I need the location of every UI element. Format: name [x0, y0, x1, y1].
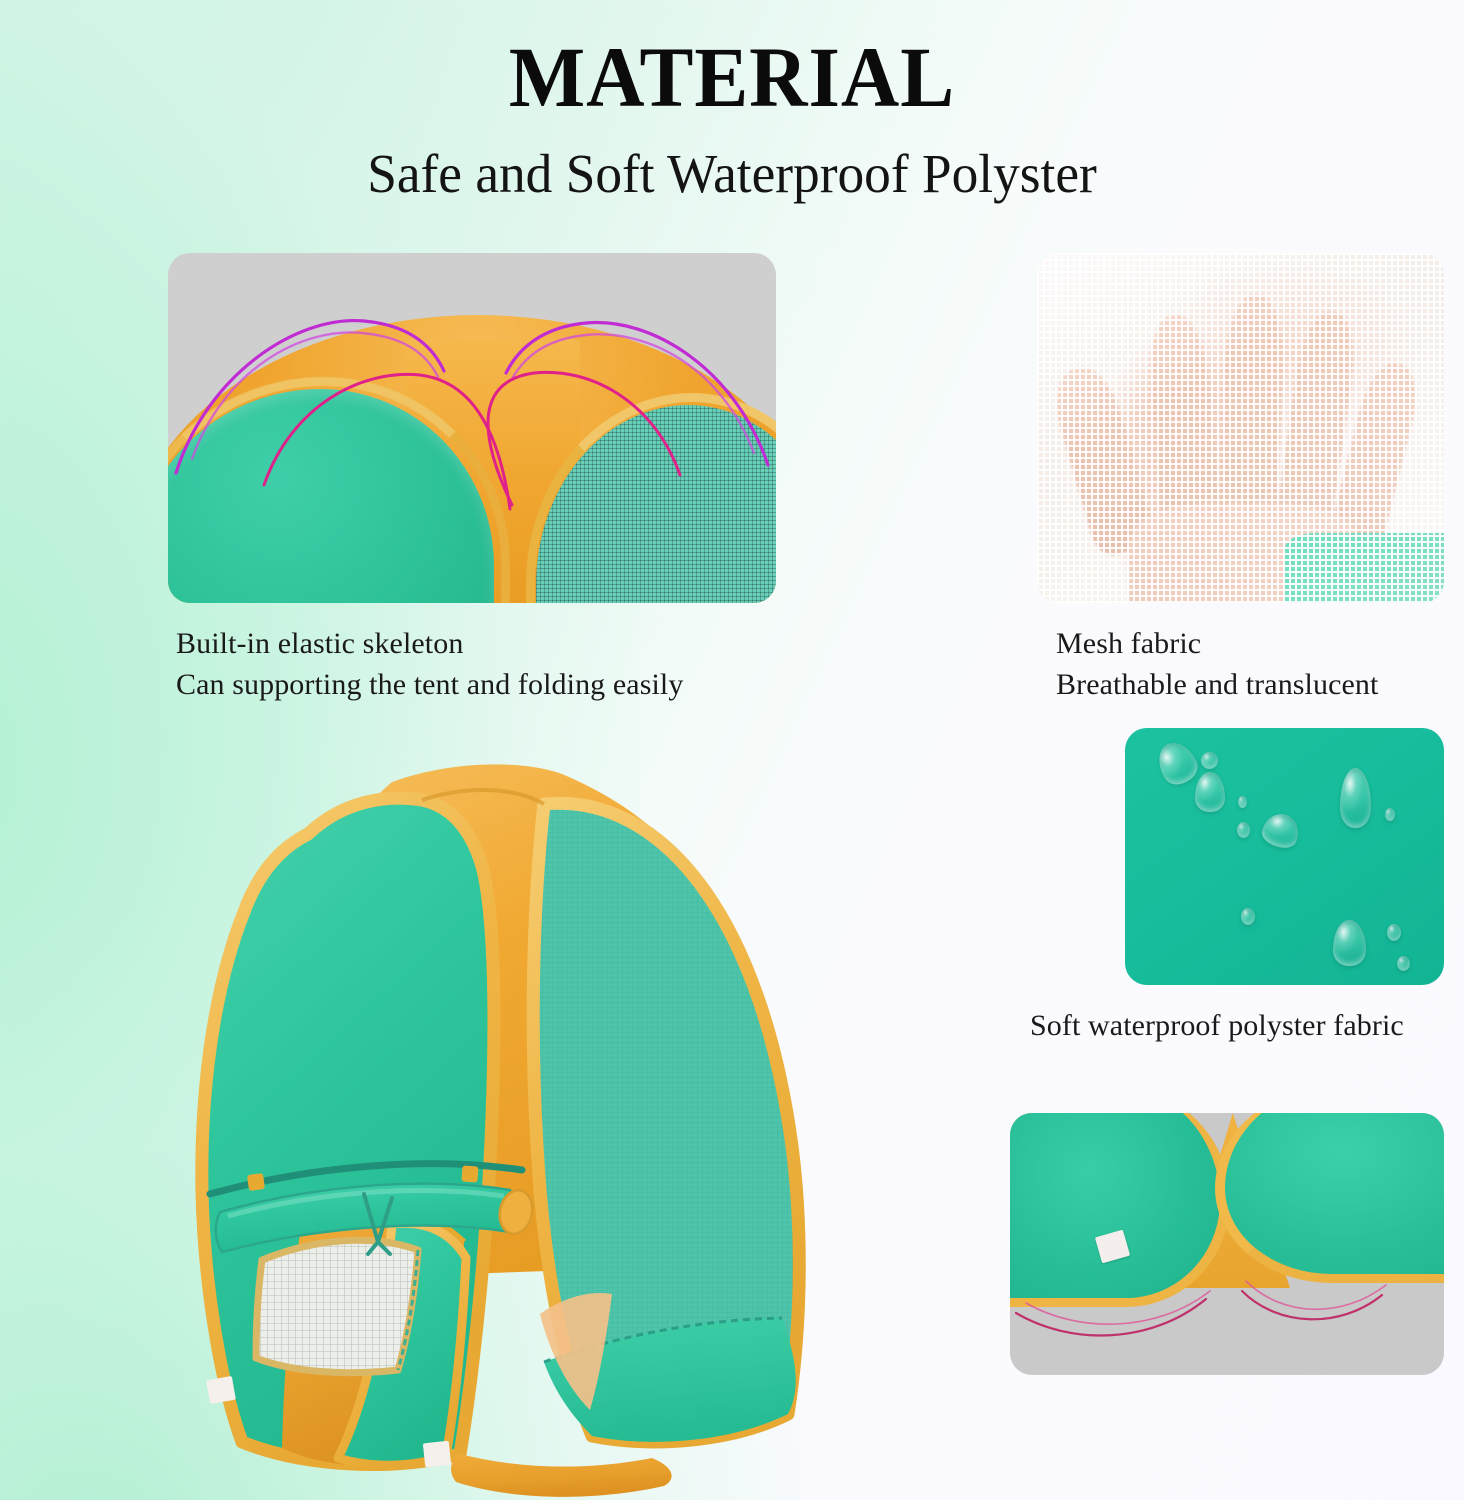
tent-top-elastic-skeleton-photo — [168, 253, 776, 603]
base-elastic-arc-overlay — [1010, 1113, 1444, 1375]
water-droplet — [1201, 752, 1218, 769]
tent-webbing-loop — [461, 1165, 478, 1182]
water-droplet — [1333, 920, 1366, 966]
skeleton-photo-scene — [168, 253, 776, 603]
page-subtitle: Safe and Soft Waterproof Polyster — [22, 146, 1442, 201]
page-title: MATERIAL — [44, 34, 1420, 120]
velcro-patch-bottom — [423, 1441, 451, 1468]
water-droplet — [1241, 908, 1255, 925]
tent-mesh-window — [256, 1240, 418, 1372]
water-droplet — [1385, 808, 1395, 821]
water-droplet — [1151, 736, 1203, 790]
infographic-canvas: MATERIAL Safe and Soft Waterproof Polyst… — [0, 0, 1464, 1500]
caption-mesh-fabric: Mesh fabric Breathable and translucent — [1056, 623, 1464, 706]
water-droplet — [1340, 768, 1371, 828]
water-droplet — [1237, 822, 1250, 838]
velcro-patch-left — [206, 1376, 236, 1404]
tent-floor-edge — [451, 1454, 672, 1497]
pop-up-play-tent-main-photo — [92, 742, 852, 1500]
hand-behind-mesh-fabric-photo — [1037, 253, 1444, 603]
caption-waterproof-fabric: Soft waterproof polyster fabric — [1030, 1005, 1460, 1046]
water-droplet — [1259, 809, 1303, 852]
water-droplet — [1397, 956, 1410, 971]
tent-base-hem-photo — [1010, 1113, 1444, 1375]
mesh-light-sheen — [1037, 253, 1444, 603]
water-droplets-on-fabric-photo — [1125, 728, 1444, 985]
water-droplet — [1387, 924, 1401, 941]
heading-block: MATERIAL Safe and Soft Waterproof Polyst… — [0, 34, 1464, 201]
tent-webbing-loop — [247, 1173, 265, 1191]
water-droplet — [1238, 796, 1247, 808]
elastic-skeleton-arc-overlay — [168, 253, 776, 603]
tent-illustration — [92, 742, 852, 1500]
caption-elastic-skeleton: Built-in elastic skeleton Can supporting… — [176, 623, 816, 706]
water-droplet — [1195, 772, 1225, 812]
